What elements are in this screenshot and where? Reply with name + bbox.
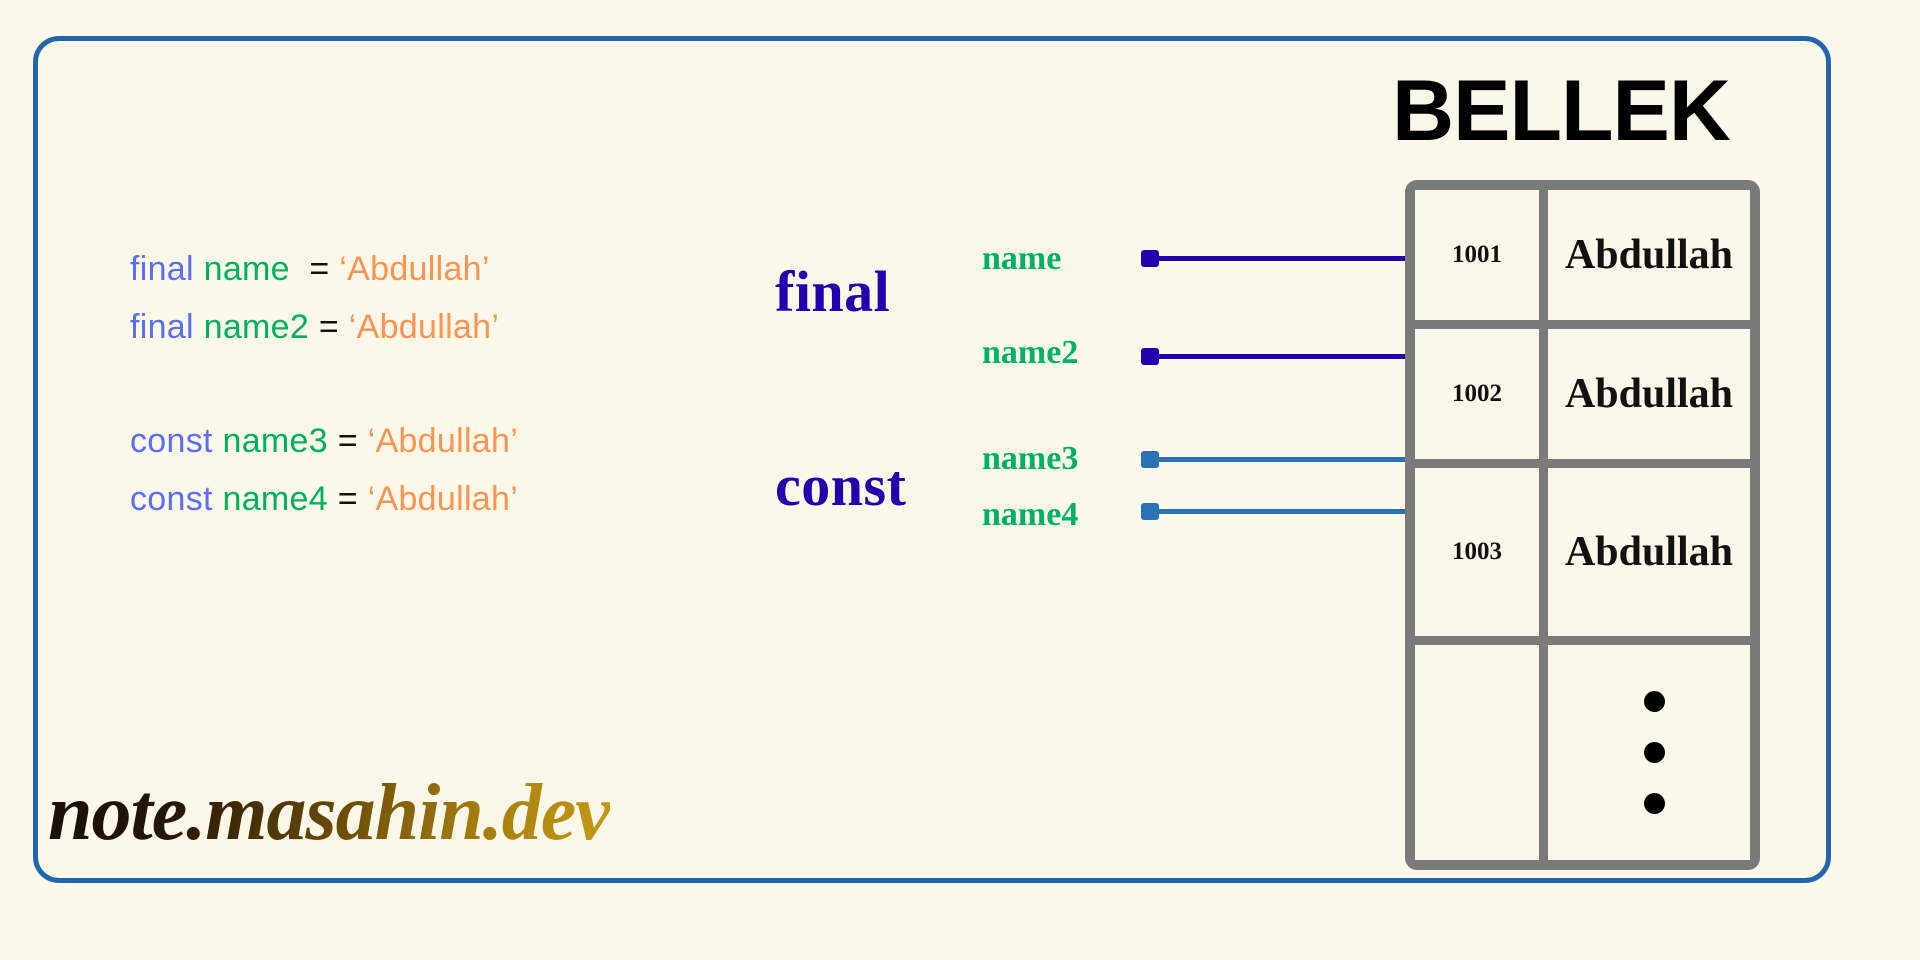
code-line-1: final name = ‘Abdullah’ xyxy=(130,240,690,298)
dot xyxy=(1644,691,1665,712)
variable-label-name3: name3 xyxy=(982,440,1078,478)
code-equals: = xyxy=(300,250,340,288)
memory-row: 1003 Abdullah xyxy=(1415,468,1750,636)
memory-title: BELLEK xyxy=(1392,62,1730,161)
connector-name3 xyxy=(1141,455,1428,463)
code-string: ‘Abdullah’ xyxy=(349,308,499,346)
keyword-label-final: final xyxy=(775,258,890,325)
code-identifier: name4 xyxy=(223,480,328,518)
connector-wire xyxy=(1151,509,1418,514)
code-equals: = xyxy=(309,308,349,346)
variable-label-name2: name2 xyxy=(982,334,1078,372)
code-string: ‘Abdullah’ xyxy=(368,422,518,460)
variable-label-name4: name4 xyxy=(982,496,1078,534)
memory-address-cell: 1003 xyxy=(1415,468,1539,636)
memory-address-cell: 1001 xyxy=(1415,190,1539,320)
memory-value-cell: Abdullah xyxy=(1548,468,1750,636)
memory-row-ellipsis xyxy=(1415,645,1750,860)
diagram-canvas: final name = ‘Abdullah’ final name2 = ‘A… xyxy=(0,0,1920,960)
memory-value-cell-ellipsis xyxy=(1548,645,1750,860)
dot xyxy=(1644,742,1665,763)
code-identifier: name3 xyxy=(223,422,328,460)
code-identifier: name2 xyxy=(204,308,309,346)
code-equals: = xyxy=(328,422,368,460)
variable-label-name: name xyxy=(982,240,1061,278)
connector-name2 xyxy=(1141,352,1428,360)
memory-row: 1001 Abdullah xyxy=(1415,190,1750,320)
code-line-3: const name3 = ‘Abdullah’ xyxy=(130,412,690,470)
memory-value-cell: Abdullah xyxy=(1548,329,1750,459)
memory-table: 1001 Abdullah 1002 Abdullah 1003 Abdulla… xyxy=(1405,180,1760,870)
watermark-logo: note.masahin.dev xyxy=(48,768,610,859)
memory-value-cell: Abdullah xyxy=(1548,190,1750,320)
connector-name xyxy=(1141,254,1428,262)
code-keyword: final xyxy=(130,250,194,288)
vertical-ellipsis-icon xyxy=(1548,645,1750,860)
keyword-label-const: const xyxy=(775,452,906,519)
code-keyword: const xyxy=(130,422,213,460)
code-block: final name = ‘Abdullah’ final name2 = ‘A… xyxy=(130,240,690,528)
memory-row: 1002 Abdullah xyxy=(1415,329,1750,459)
connector-name4 xyxy=(1141,507,1428,515)
memory-address-cell-empty xyxy=(1415,645,1539,860)
code-identifier: name xyxy=(204,250,300,288)
code-keyword: const xyxy=(130,480,213,518)
code-spacer xyxy=(130,356,690,412)
code-line-4: const name4 = ‘Abdullah’ xyxy=(130,470,690,528)
code-equals: = xyxy=(328,480,368,518)
connector-wire xyxy=(1151,354,1418,359)
connector-wire xyxy=(1151,256,1418,261)
code-string: ‘Abdullah’ xyxy=(368,480,518,518)
code-string: ‘Abdullah’ xyxy=(339,250,489,288)
memory-address-cell: 1002 xyxy=(1415,329,1539,459)
connector-wire xyxy=(1151,457,1418,462)
code-line-2: final name2 = ‘Abdullah’ xyxy=(130,298,690,356)
dot xyxy=(1644,793,1665,814)
code-keyword: final xyxy=(130,308,194,346)
